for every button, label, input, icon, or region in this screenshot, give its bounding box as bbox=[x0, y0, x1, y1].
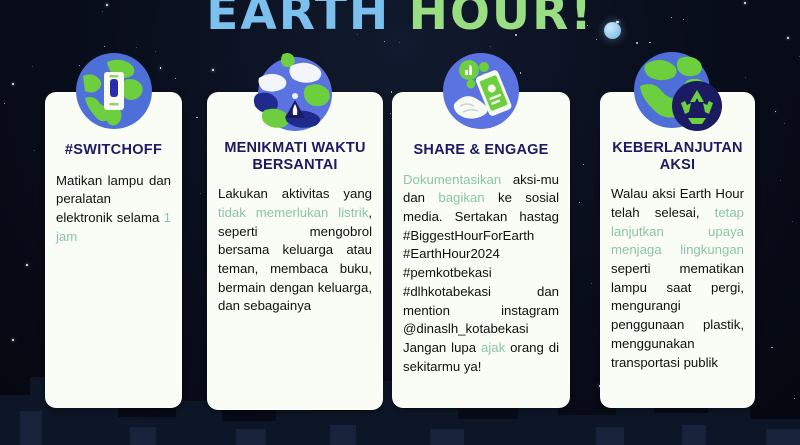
card-title: KEBERLANJUTAN AKSI bbox=[611, 140, 744, 173]
card-body: Walau aksi Earth Hour telah selesai, tet… bbox=[611, 185, 744, 372]
card-body: Lakukan aktivitas yang tidak memerlukan … bbox=[218, 185, 372, 316]
star bbox=[490, 46, 491, 47]
highlighted-text: bagikan bbox=[438, 190, 484, 205]
body-text: ke sosial media. Sertakan hastag #Bigges… bbox=[403, 190, 559, 355]
highlighted-text: tidak memerlukan listrik bbox=[218, 205, 368, 220]
star bbox=[104, 46, 105, 47]
star bbox=[583, 164, 584, 165]
star bbox=[4, 103, 5, 104]
body-text: , seperti mengobrol bersama keluarga ata… bbox=[218, 205, 372, 314]
star bbox=[636, 42, 638, 44]
card-body: Matikan lampu dan peralatan elektronik s… bbox=[56, 172, 171, 247]
star bbox=[399, 42, 400, 43]
card-share-engage[interactable]: SHARE & ENGAGE Dokumentasikan aksi-mu da… bbox=[392, 92, 570, 408]
star bbox=[32, 66, 33, 67]
star bbox=[390, 113, 391, 114]
page-title: EARTH HOUR! bbox=[0, 0, 800, 40]
title-earth: EARTH bbox=[206, 0, 390, 41]
star bbox=[792, 221, 793, 222]
title-hour: HOUR! bbox=[409, 0, 594, 41]
highlighted-text: ajak bbox=[481, 340, 505, 355]
card-title: MENIKMATI WAKTU BERSANTAI bbox=[218, 140, 372, 173]
star bbox=[745, 77, 746, 78]
star bbox=[155, 51, 156, 52]
card-keberlanjutan-aksi[interactable]: KEBERLANJUTAN AKSI Walau aksi Earth Hour… bbox=[600, 92, 755, 408]
globe-light-switch-icon bbox=[73, 50, 155, 132]
card-body: Dokumentasikan aksi-mu dan bagikan ke so… bbox=[403, 171, 559, 377]
star bbox=[784, 123, 785, 124]
globe-recycle-icon bbox=[630, 48, 726, 136]
card-title: #SWITCHOFF bbox=[56, 142, 171, 159]
body-text: seperti mematikan lampu saat pergi, meng… bbox=[611, 261, 744, 370]
card-title: SHARE & ENGAGE bbox=[403, 142, 559, 159]
globe-camping-tent-icon bbox=[245, 48, 345, 134]
hand-phone-social-icon bbox=[438, 48, 524, 134]
card-menikmati-waktu-bersantai[interactable]: MENIKMATI WAKTU BERSANTAI Lakukan aktivi… bbox=[207, 92, 383, 410]
card-switchoff[interactable]: #SWITCHOFF Matikan lampu dan peralatan e… bbox=[45, 92, 182, 408]
body-text: Lakukan aktivitas yang bbox=[218, 186, 372, 201]
highlighted-text: Dokumentasikan bbox=[403, 172, 501, 187]
star bbox=[579, 202, 580, 203]
body-text: Matikan lampu dan peralatan elektronik s… bbox=[56, 173, 171, 225]
